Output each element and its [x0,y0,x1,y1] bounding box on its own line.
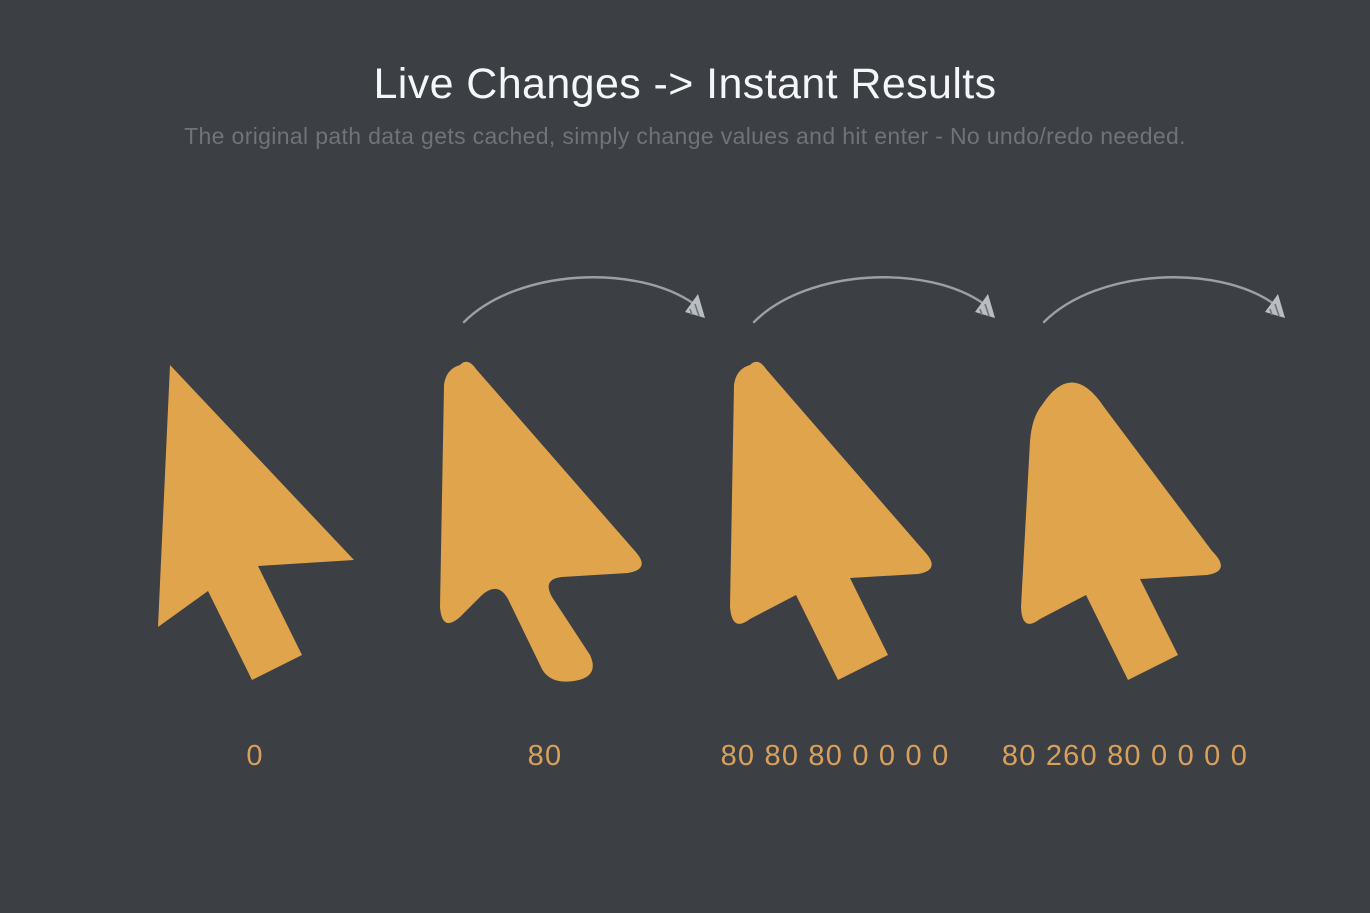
cursor-example-0[interactable]: 0 [110,250,400,810]
cursor-preview-2 [690,355,980,685]
cursor-examples-row: 0 80 [0,250,1370,810]
header: Live Changes -> Instant Results The orig… [0,0,1370,149]
transition-arrow-2 [748,260,1008,330]
cursor-value-label-3: 80 260 80 0 0 0 0 [980,740,1270,773]
cursor-shape-2 [710,355,960,685]
cursor-preview-3 [980,355,1270,685]
cursor-preview-1 [400,355,690,685]
curved-arrow-icon [1038,260,1298,330]
cursor-preview-0 [110,355,400,685]
curved-arrow-icon [748,260,1008,330]
transition-arrow-1 [458,260,718,330]
cursor-value-label-2: 80 80 80 0 0 0 0 [690,740,980,773]
cursor-example-2[interactable]: 80 80 80 0 0 0 0 [690,250,980,810]
page-title: Live Changes -> Instant Results [0,62,1370,107]
cursor-value-label-1: 80 [400,740,690,773]
cursor-example-1[interactable]: 80 [400,250,690,810]
transition-arrow-3 [1038,260,1298,330]
cursor-shape-1 [420,355,670,685]
page-subtitle: The original path data gets cached, simp… [0,124,1370,149]
app-canvas: Live Changes -> Instant Results The orig… [0,0,1370,913]
cursor-value-label-0: 0 [110,740,400,773]
cursor-shape-0 [130,355,380,685]
cursor-example-3[interactable]: 80 260 80 0 0 0 0 [980,250,1270,810]
curved-arrow-icon [458,260,718,330]
cursor-shape-3 [1000,355,1250,685]
